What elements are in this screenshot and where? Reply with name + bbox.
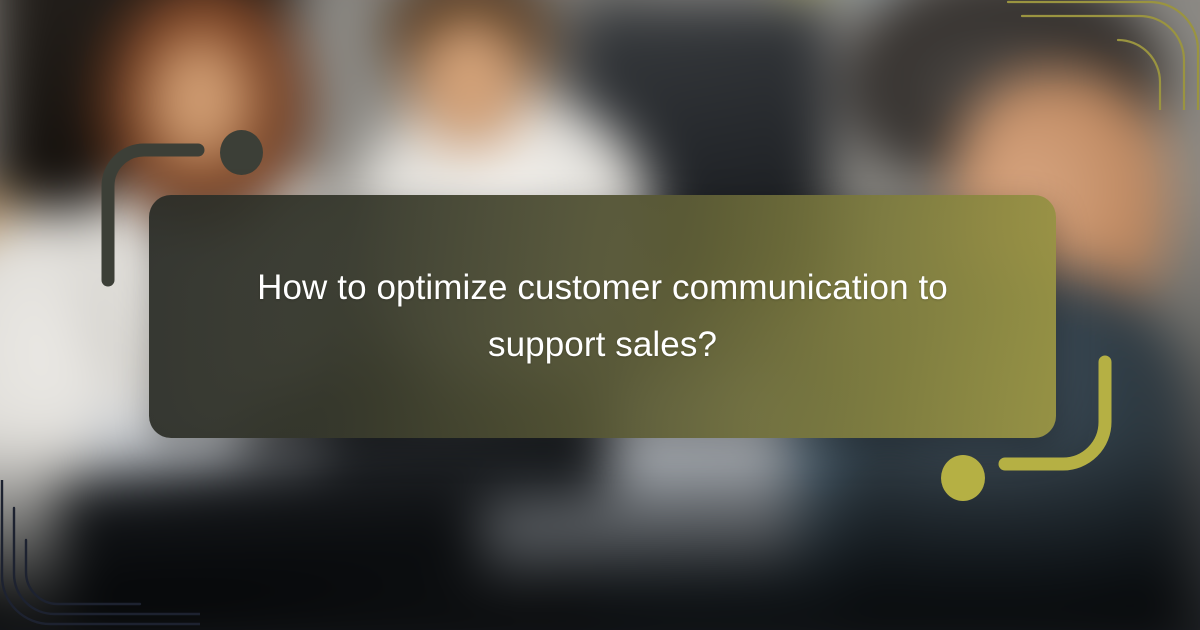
photo-person-man-face [410, 18, 530, 148]
dot-bottom-right [941, 455, 985, 501]
dot-top-left [220, 130, 263, 175]
share-card-canvas: How to optimize customer communication t… [0, 0, 1200, 630]
page-title: How to optimize customer communication t… [213, 260, 993, 373]
title-card: How to optimize customer communication t… [149, 195, 1056, 438]
photo-bottom-vignette [0, 440, 1190, 630]
